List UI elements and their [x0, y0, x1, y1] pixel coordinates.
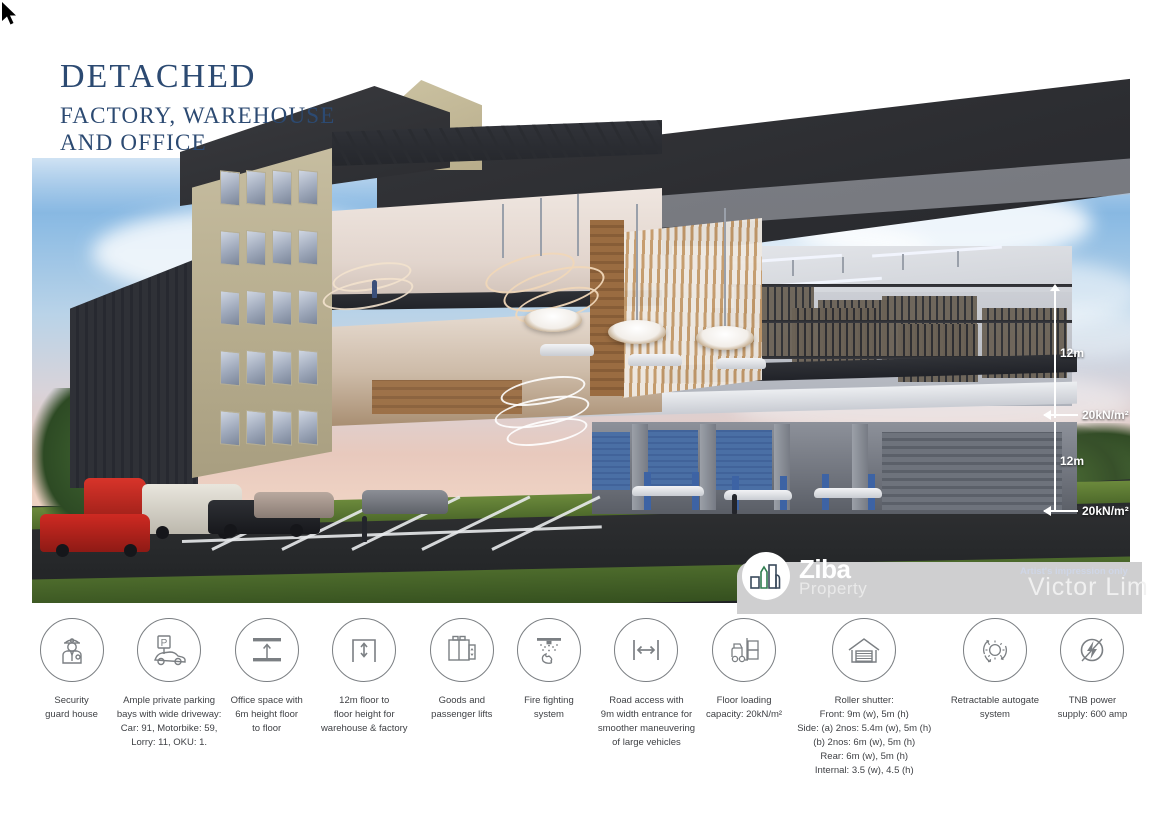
fire-sprinkler-icon [517, 618, 581, 682]
feature-wave-wall [622, 218, 762, 398]
feature-caption: 12m floor to floor height for warehouse … [321, 694, 408, 736]
feature-caption: Fire fighting system [524, 694, 574, 722]
feature-caption: Road access with 9m width entrance for s… [598, 694, 695, 750]
security-guard-icon [40, 618, 104, 682]
roller-shutter-bay [648, 430, 698, 490]
road-width-icon [614, 618, 678, 682]
page-title: DETACHED FACTORY, WAREHOUSE AND OFFICE [60, 58, 336, 156]
feature-security-guard-house[interactable]: Security guard house [28, 618, 115, 722]
headline-sub-line2: AND OFFICE [60, 129, 336, 156]
ziba-property-logo: Ziba Property [742, 552, 867, 600]
feature-fire-fighting[interactable]: Fire fighting system [505, 618, 592, 722]
logo-sub-text: Property [799, 580, 867, 597]
dimension-line-lower [1054, 422, 1056, 510]
load-callout-lower: 20kN/m² [1044, 504, 1129, 518]
features-strip: Security guard house P Ample private par… [28, 618, 1136, 808]
forklift-icon [712, 618, 776, 682]
headline-sub-line1: FACTORY, WAREHOUSE [60, 102, 336, 129]
feature-caption: Retractable autogate system [951, 694, 1039, 722]
person-foreground [362, 516, 367, 542]
lift-icon [430, 618, 494, 682]
dimension-upper-load: 20kN/m² [1082, 408, 1129, 422]
mouse-cursor-icon [2, 2, 20, 28]
load-callout-upper: 20kN/m² [1044, 408, 1129, 422]
feature-warehouse-floor-height[interactable]: 12m floor to floor height for warehouse … [310, 618, 418, 736]
feature-office-floor-height[interactable]: Office space with 6m height floor to flo… [223, 618, 310, 736]
feature-roller-shutter[interactable]: Roller shutter: Front: 9m (w), 5m (h) Si… [788, 618, 941, 778]
feature-floor-loading[interactable]: Floor loading capacity: 20kN/m² [700, 618, 787, 722]
dimension-upper-height: 12m [1060, 346, 1084, 360]
feature-caption: Security guard house [45, 694, 98, 722]
feature-caption: Roller shutter: Front: 9m (w), 5m (h) Si… [797, 694, 931, 778]
feature-caption: Floor loading capacity: 20kN/m² [706, 694, 782, 722]
city-buildings-icon [742, 552, 790, 600]
dimension-line-upper [1054, 290, 1056, 418]
headline-main: DETACHED [60, 58, 336, 96]
power-bolt-icon [1060, 618, 1124, 682]
feature-lifts[interactable]: Goods and passenger lifts [418, 618, 505, 722]
feature-parking-bays[interactable]: P Ample private parking bays with wide d… [115, 618, 223, 750]
photographer-watermark: Victor Lim [1028, 573, 1149, 602]
office-window-grid [218, 156, 336, 488]
floor-to-floor-icon [332, 618, 396, 682]
feature-caption: Goods and passenger lifts [431, 694, 492, 722]
feature-tnb-power[interactable]: TNB power supply: 600 amp [1049, 618, 1136, 722]
logo-brand-text: Ziba [799, 556, 867, 582]
dimension-lower-height: 12m [1060, 454, 1084, 468]
feature-caption: TNB power supply: 600 amp [1058, 694, 1128, 722]
autogate-icon [963, 618, 1027, 682]
dimension-lower-load: 20kN/m² [1082, 504, 1129, 518]
brochure-page: 12m 20kN/m² 12m 20kN/m² Ziba [0, 0, 1160, 816]
pendant-disc-light [524, 308, 582, 332]
feature-autogate[interactable]: Retractable autogate system [941, 618, 1049, 722]
feature-caption: Ample private parking bays with wide dri… [117, 694, 222, 750]
feature-caption: Office space with 6m height floor to flo… [231, 694, 303, 736]
roller-shutter-icon [832, 618, 896, 682]
floor-height-icon [235, 618, 299, 682]
feature-road-access[interactable]: Road access with 9m width entrance for s… [592, 618, 700, 750]
svg-text:P: P [161, 638, 168, 649]
parking-car-icon: P [137, 618, 201, 682]
